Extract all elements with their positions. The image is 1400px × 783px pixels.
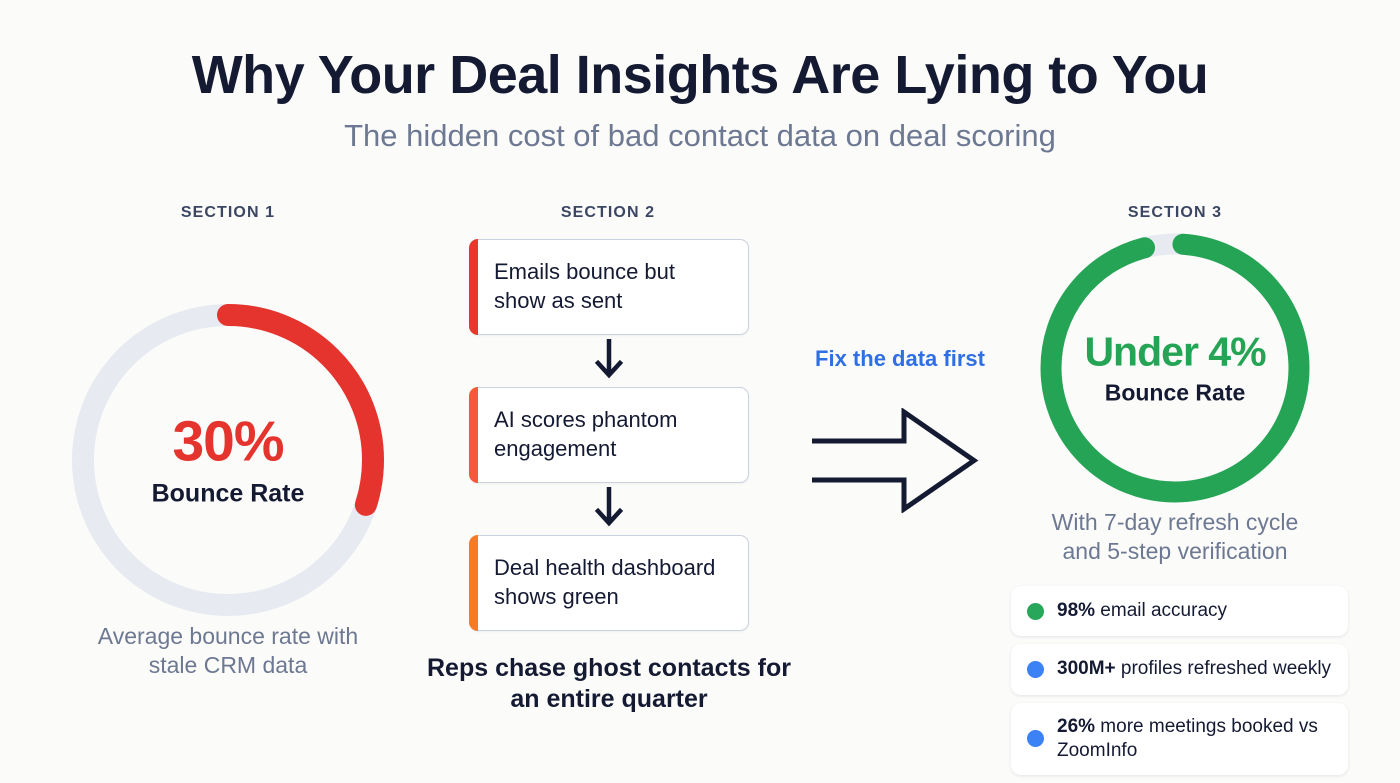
- donut-center-label-before: 30% Bounce Rate: [72, 414, 384, 507]
- connector-label: Fix the data first: [780, 346, 1020, 372]
- legend-item-text: 300M+ profiles refreshed weekly: [1057, 657, 1331, 681]
- flow-step-1-accent: [469, 239, 478, 335]
- flow-down-arrow-icon-2: [469, 483, 749, 535]
- page-subtitle: The hidden cost of bad contact data on d…: [0, 118, 1400, 154]
- legend-item-text: 98% email accuracy: [1057, 599, 1227, 623]
- legend-item-meetings-booked[interactable]: 26% more meetings booked vs ZoomInfo: [1011, 703, 1348, 776]
- bounce-rate-value-after: Under 4%: [1039, 332, 1311, 373]
- section-3-label: SECTION 3: [1075, 204, 1275, 222]
- legend-item-email-accuracy[interactable]: 98% email accuracy: [1011, 586, 1348, 636]
- legend-item-desc: profiles refreshed weekly: [1116, 658, 1331, 679]
- flow-step-2[interactable]: AI scores phantom engagement: [469, 387, 749, 483]
- flow-step-3-text: Deal health dashboard shows green: [494, 554, 732, 611]
- flow-step-1-text: Emails bounce but show as sent: [494, 258, 732, 315]
- legend-item-text: 26% more meetings booked vs ZoomInfo: [1057, 715, 1332, 764]
- infographic-canvas: Why Your Deal Insights Are Lying to You …: [0, 0, 1400, 781]
- section-3-caption: With 7-day refresh cycle and 5-step veri…: [1035, 508, 1315, 567]
- flow-step-2-text: AI scores phantom engagement: [494, 406, 732, 463]
- status-dot-icon: [1027, 730, 1044, 747]
- header: Why Your Deal Insights Are Lying to You …: [0, 46, 1400, 154]
- status-dot-icon: [1027, 661, 1044, 678]
- flow-down-arrow-icon-1: [469, 335, 749, 387]
- failure-flow: Emails bounce but show as sent AI scores…: [469, 239, 749, 631]
- bounce-rate-donut-before: 30% Bounce Rate: [72, 304, 384, 616]
- bounce-rate-donut-after: Under 4% Bounce Rate: [1039, 232, 1311, 504]
- legend-item-stat: 300M+: [1057, 658, 1116, 679]
- legend-item-profiles-refreshed[interactable]: 300M+ profiles refreshed weekly: [1011, 644, 1348, 694]
- legend-item-stat: 98%: [1057, 600, 1095, 621]
- bounce-rate-value-before: 30%: [72, 414, 384, 471]
- legend-item-desc: email accuracy: [1095, 600, 1227, 621]
- page-title: Why Your Deal Insights Are Lying to You: [0, 46, 1400, 104]
- section-2-caption: Reps chase ghost contacts for an entire …: [419, 653, 799, 716]
- donut-center-label-after: Under 4% Bounce Rate: [1039, 332, 1311, 405]
- legend-item-desc: more meetings booked vs ZoomInfo: [1057, 716, 1318, 761]
- section-1-caption: Average bounce rate with stale CRM data: [78, 622, 378, 681]
- section-1-label: SECTION 1: [128, 204, 328, 222]
- right-arrow-icon: [812, 408, 982, 513]
- section-2-label: SECTION 2: [508, 204, 708, 222]
- bounce-rate-metric-before: Bounce Rate: [72, 482, 384, 507]
- status-dot-icon: [1027, 603, 1044, 620]
- flow-step-1[interactable]: Emails bounce but show as sent: [469, 239, 749, 335]
- bounce-rate-metric-after: Bounce Rate: [1039, 382, 1311, 405]
- flow-step-3[interactable]: Deal health dashboard shows green: [469, 535, 749, 631]
- flow-step-3-accent: [469, 535, 478, 631]
- stats-legend: 98% email accuracy 300M+ profiles refres…: [1011, 586, 1348, 783]
- flow-step-2-accent: [469, 387, 478, 483]
- legend-item-stat: 26%: [1057, 716, 1095, 737]
